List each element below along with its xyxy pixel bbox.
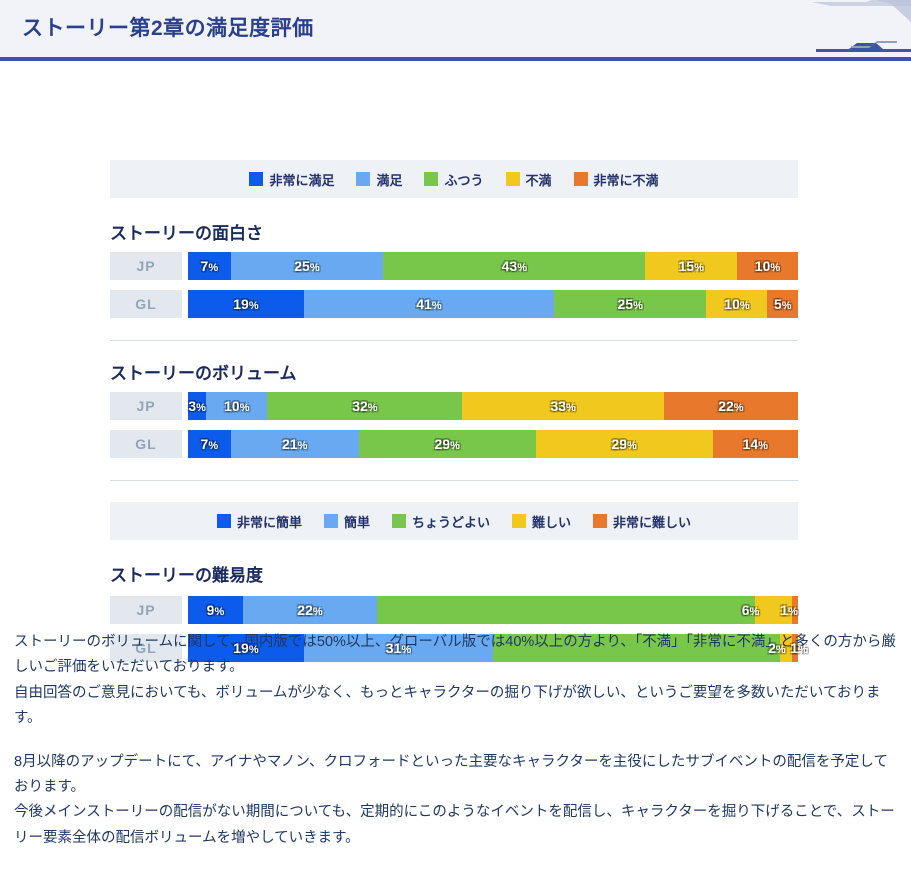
bar-segment: 33% (462, 392, 663, 420)
bar-segment: 29% (359, 430, 536, 458)
bar-segment-label: 9% (207, 602, 225, 618)
bar-segment: 1% (755, 596, 792, 624)
legend-swatch-icon (249, 172, 263, 186)
legend-swatch-icon (217, 514, 231, 528)
stacked-bar: 3% 10% 32% 33% 22% (188, 392, 798, 420)
page-header: ストーリー第2章の満足度評価 (0, 0, 911, 61)
bar-segment: 29% (536, 430, 713, 458)
chart-row-jp: JP 7% 25% 43% 15% 10% (110, 252, 798, 280)
legend-item-label: 満足 (376, 170, 402, 189)
bar-segment (792, 596, 798, 624)
bar-segment-label: 25% (618, 296, 643, 312)
legend-item: 簡単 (324, 512, 370, 531)
legend-item-label: 非常に満足 (269, 170, 334, 189)
bar-segment-label: 10% (724, 296, 749, 312)
legend-item: 非常に満足 (249, 170, 334, 189)
stacked-bar: 9% 22% 6% 1% (188, 596, 798, 624)
section-divider (110, 340, 798, 341)
chart-row-gl: GL 7% 21% 29% 29% 14% (110, 430, 798, 458)
legend-swatch-icon (506, 172, 520, 186)
chart-row-jp: JP 9% 22% 6% 1% (110, 596, 798, 624)
bar-segment: 10% (737, 252, 798, 280)
legend-swatch-icon (356, 172, 370, 186)
commentary-paragraph-2: 8月以降のアップデートにて、アイナやマノン、クロフォードといった主要なキャラクタ… (14, 750, 897, 852)
bar-segment-label: 10% (755, 258, 780, 274)
bar-segment: 22% (243, 596, 377, 624)
legend-item: 満足 (356, 170, 402, 189)
legend-item-label: 不満 (526, 170, 552, 189)
bar-segment: 25% (554, 290, 707, 318)
bar-segment-label: 21% (282, 436, 307, 452)
bar-segment: 15% (645, 252, 737, 280)
bar-segment-label: 41% (416, 296, 441, 312)
legend-swatch-icon (593, 514, 607, 528)
bar-segment-label: 33% (550, 398, 575, 414)
bar-segment: 32% (267, 392, 462, 420)
legend-item-label: 難しい (532, 512, 571, 531)
legend-item: 非常に不満 (574, 170, 659, 189)
legend-swatch-icon (512, 514, 526, 528)
commentary-paragraph-1: ストーリーのボリュームに関して、国内版では50%以上、グローバル版では40%以上… (14, 630, 897, 732)
legend-item-label: 非常に難しい (613, 512, 691, 531)
chart-title-story-difficulty: ストーリーの難易度 (110, 561, 263, 586)
legend-item-label: 非常に不満 (594, 170, 659, 189)
legend-swatch-icon (424, 172, 438, 186)
bar-segment: 22% (664, 392, 798, 420)
legend-swatch-icon (324, 514, 338, 528)
bar-segment-label: 5% (774, 296, 792, 312)
bar-segment-label: 10% (224, 398, 249, 414)
bar-segment-label: 22% (718, 398, 743, 414)
bar-segment: 14% (713, 430, 798, 458)
legend-item: 不満 (506, 170, 552, 189)
bar-segment-label: 29% (611, 436, 636, 452)
bar-segment-label: 19% (233, 296, 258, 312)
chart-title-story-volume: ストーリーのボリューム (110, 359, 297, 384)
legend-item-label: ちょうどよい (412, 512, 490, 531)
bar-segment: 21% (231, 430, 359, 458)
row-label: GL (110, 290, 182, 318)
header-decoration-icon (771, 0, 911, 57)
page-title: ストーリー第2章の満足度評価 (22, 12, 314, 42)
bar-segment: 41% (304, 290, 554, 318)
chart-row-jp: JP 3% 10% 32% 33% 22% (110, 392, 798, 420)
bar-segment: 25% (231, 252, 384, 280)
legend-item: ふつう (424, 170, 483, 189)
row-label: JP (110, 252, 182, 280)
bar-segment-label: 7% (201, 436, 219, 452)
bar-segment: 6% (377, 596, 755, 624)
bar-segment-label: 7% (201, 258, 219, 274)
bar-segment-label: 14% (743, 436, 768, 452)
legend-item-label: ふつう (444, 170, 483, 189)
bar-segment: 10% (206, 392, 267, 420)
bar-segment-label: 15% (679, 258, 704, 274)
legend-item: ちょうどよい (392, 512, 490, 531)
bar-segment: 43% (383, 252, 645, 280)
bar-segment-label: 22% (297, 602, 322, 618)
legend-item-label: 簡単 (344, 512, 370, 531)
bar-segment-label: 29% (435, 436, 460, 452)
bar-segment-label: 43% (502, 258, 527, 274)
bar-segment: 5% (767, 290, 798, 318)
bar-segment: 10% (706, 290, 767, 318)
bar-segment-label: 3% (188, 398, 206, 414)
row-label: GL (110, 430, 182, 458)
bar-segment-label: 32% (352, 398, 377, 414)
commentary-section: ストーリーのボリュームに関して、国内版では50%以上、グローバル版では40%以上… (14, 630, 897, 869)
satisfaction-legend: 非常に満足 満足 ふつう 不満 非常に不満 (110, 160, 798, 198)
legend-item-label: 非常に簡単 (237, 512, 302, 531)
legend-item: 非常に難しい (593, 512, 691, 531)
bar-segment: 9% (188, 596, 243, 624)
legend-item: 非常に簡単 (217, 512, 302, 531)
chart-title-story-interest: ストーリーの面白さ (110, 219, 263, 244)
legend-swatch-icon (574, 172, 588, 186)
legend-swatch-icon (392, 514, 406, 528)
stacked-bar: 7% 25% 43% 15% 10% (188, 252, 798, 280)
bar-segment: 7% (188, 430, 231, 458)
bar-segment: 19% (188, 290, 304, 318)
stacked-bar: 19% 41% 25% 10% 5% (188, 290, 798, 318)
row-label: JP (110, 392, 182, 420)
section-divider (110, 480, 798, 481)
chart-row-gl: GL 19% 41% 25% 10% 5% (110, 290, 798, 318)
difficulty-legend: 非常に簡単 簡単 ちょうどよい 難しい 非常に難しい (110, 502, 798, 540)
bar-segment: 7% (188, 252, 231, 280)
row-label: JP (110, 596, 182, 624)
bar-segment: 3% (188, 392, 206, 420)
bar-segment-label: 25% (294, 258, 319, 274)
legend-item: 難しい (512, 512, 571, 531)
stacked-bar: 7% 21% 29% 29% 14% (188, 430, 798, 458)
